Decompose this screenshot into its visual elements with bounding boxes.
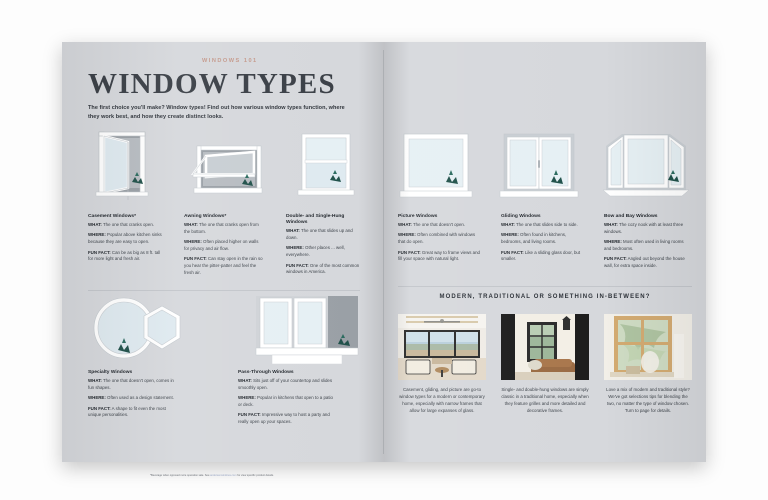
window-type-card: Gliding Windows WHAT: The one that slide…: [501, 214, 583, 274]
window-type-name: Specialty Windows: [88, 370, 180, 376]
photo-card: Casement, gliding, and picture are go-to…: [398, 314, 486, 414]
window-type-what: WHAT: The one that slides up and down.: [286, 228, 360, 242]
window-type-what: WHAT: The one that doesn't open.: [398, 222, 480, 229]
footnote-link[interactable]: andersenwindows.com: [210, 474, 236, 477]
picture-window-illustration: [398, 130, 476, 204]
window-type-fun: FUN FACT: Impressive way to host a party…: [238, 412, 338, 426]
window-type-fun: FUN FACT: Angled out beyond the house wa…: [604, 256, 692, 270]
window-type-name: Bow and Bay Windows: [604, 214, 692, 220]
bow-bay-window-illustration: [602, 130, 690, 204]
eyebrow-label: WINDOWS 101: [202, 58, 258, 64]
traditional-living-room-photo: [501, 314, 589, 380]
window-type-what: WHAT: The one that cranks open.: [88, 222, 162, 229]
transitional-window-photo: [604, 314, 692, 380]
window-type-card: Double- and Single-Hung Windows WHAT: Th…: [286, 214, 360, 280]
magazine-spread-stage: WINDOWS 101 WINDOW TYPES The first choic…: [0, 0, 768, 500]
window-type-where: WHERE: Often used as a design statement.: [88, 395, 180, 402]
window-type-name: Casement Windows*: [88, 214, 162, 220]
window-type-fun: FUN FACT: Like a sliding glass door, but…: [501, 250, 583, 264]
text-block-row-top-left: Casement Windows* WHAT: The one that cra…: [88, 214, 360, 280]
window-type-card: Specialty Windows WHAT: The one that doe…: [88, 370, 180, 430]
text-block-row-bottom-left: Specialty Windows WHAT: The one that doe…: [88, 370, 360, 430]
window-type-what: WHAT: The one that doesn't open, comes i…: [88, 378, 180, 392]
illustration-row-top-left: [88, 130, 360, 202]
window-type-name: Awning Windows*: [184, 214, 264, 220]
photo-card: Single- and double-hung windows are simp…: [501, 314, 589, 414]
illustration-row-bottom-left: [88, 294, 360, 364]
window-type-name: Double- and Single-Hung Windows: [286, 214, 360, 226]
window-type-card: Casement Windows* WHAT: The one that cra…: [88, 214, 162, 280]
window-type-where: WHERE: Often combined with windows that …: [398, 232, 480, 246]
left-page: WINDOWS 101 WINDOW TYPES The first choic…: [62, 42, 383, 462]
section-divider-right: [398, 286, 692, 287]
section-divider-left: [88, 290, 360, 291]
photo-card: Love a mix of modern and traditional sty…: [604, 314, 692, 414]
window-type-card: Bow and Bay Windows WHAT: The cozy nook …: [604, 214, 692, 274]
window-type-what: WHAT: The cozy nook with at least three …: [604, 222, 692, 236]
window-type-where: WHERE: Often found in kitchens, bedrooms…: [501, 232, 583, 246]
window-type-where: WHERE: Often placed higher on walls for …: [184, 239, 264, 253]
photo-row: Casement, gliding, and picture are go-to…: [398, 314, 692, 414]
modern-living-room-photo: [398, 314, 486, 380]
footnote: *Beverage when opposed more operation sa…: [150, 474, 350, 478]
window-type-where: WHERE: Most often used in living rooms a…: [604, 239, 692, 253]
window-type-fun: FUN FACT: Can be as big as 8 ft. tall fo…: [88, 250, 162, 264]
illustration-row-top-right: [398, 130, 690, 204]
window-type-what: WHAT: The one that slides side to side.: [501, 222, 583, 229]
photo-caption: Love a mix of modern and traditional sty…: [604, 386, 692, 414]
window-type-what: WHAT: The one that cranks open from the …: [184, 222, 264, 236]
window-type-where: WHERE: Popular in kitchens that open to …: [238, 395, 338, 409]
gliding-window-illustration: [499, 130, 579, 204]
footnote-text-before: *Beverage when opposed more operation sa…: [150, 474, 210, 477]
casement-window-illustration: [88, 130, 164, 202]
window-type-fun: FUN FACT: A shape to fit even the most u…: [88, 406, 180, 420]
hung-window-illustration: [294, 130, 360, 202]
awning-window-illustration: [188, 130, 270, 202]
page-deck: The first choice you'll make? Window typ…: [88, 104, 356, 122]
window-type-fun: FUN FACT: One of the most common windows…: [286, 263, 360, 277]
page-title: WINDOW TYPES: [88, 70, 336, 99]
footnote-text-after: for view specific product details.: [237, 474, 274, 477]
window-type-card: Pass-Through Windows WHAT: Sits just off…: [238, 370, 338, 430]
window-type-card: Awning Windows* WHAT: The one that crank…: [184, 214, 264, 280]
window-type-fun: FUN FACT: Great way to frame views and f…: [398, 250, 480, 264]
window-type-card: Picture Windows WHAT: The one that doesn…: [398, 214, 480, 274]
window-type-name: Gliding Windows: [501, 214, 583, 220]
window-type-name: Pass-Through Windows: [238, 370, 338, 376]
window-type-where: WHERE: Popular above kitchen sinks becau…: [88, 232, 162, 246]
specialty-window-illustration: [88, 294, 192, 364]
window-type-fun: FUN FACT: Can stay open in the rain so y…: [184, 256, 264, 276]
photo-caption: Single- and double-hung windows are simp…: [501, 386, 589, 414]
right-page: Picture Windows WHAT: The one that doesn…: [384, 42, 706, 462]
magazine-spread: WINDOWS 101 WINDOW TYPES The first choic…: [62, 42, 706, 462]
photo-caption: Casement, gliding, and picture are go-to…: [398, 386, 486, 414]
pass-through-window-illustration: [254, 294, 360, 364]
text-block-row-top-right: Picture Windows WHAT: The one that doesn…: [398, 214, 692, 274]
window-type-what: WHAT: Sits just off of your countertop a…: [238, 378, 338, 392]
window-type-where: WHERE: Other places ... well, everywhere…: [286, 245, 360, 259]
window-type-name: Picture Windows: [398, 214, 480, 220]
section-heading: MODERN, TRADITIONAL OR SOMETHING IN-BETW…: [384, 294, 706, 300]
